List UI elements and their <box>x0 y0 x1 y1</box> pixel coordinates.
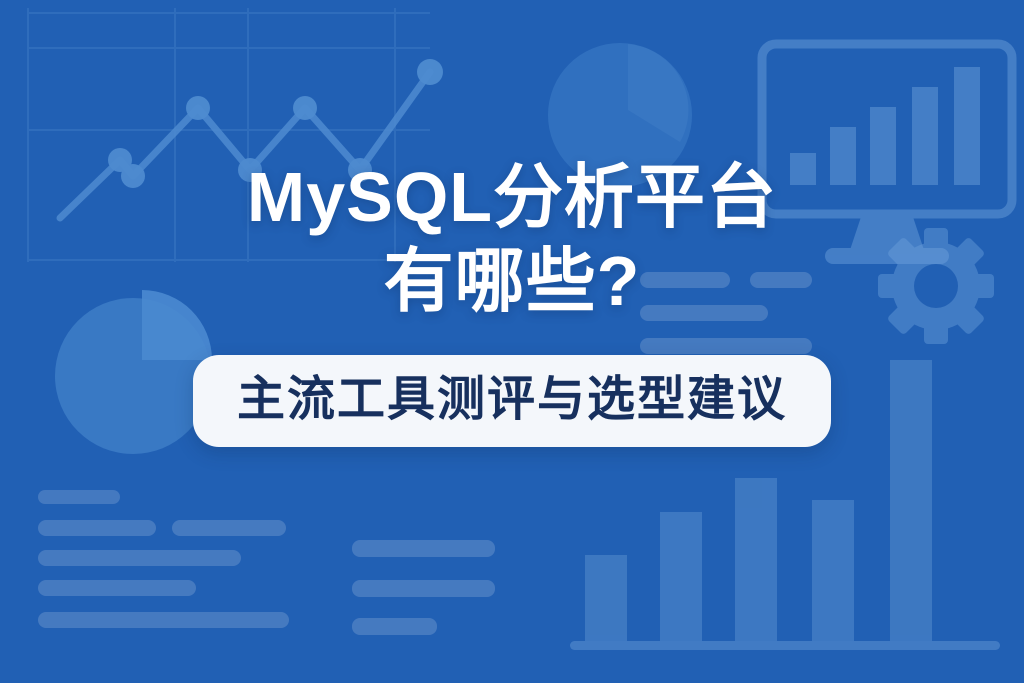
poster-content: MySQL分析平台 有哪些? 主流工具测评与选型建议 <box>0 0 1024 683</box>
subtitle-badge: 主流工具测评与选型建议 <box>193 355 831 447</box>
subtitle-badge-label: 主流工具测评与选型建议 <box>237 375 787 425</box>
poster-canvas: MySQL分析平台 有哪些? 主流工具测评与选型建议 <box>0 0 1024 683</box>
title-line-2: 有哪些? <box>247 242 777 320</box>
page-title: MySQL分析平台 有哪些? <box>247 158 777 321</box>
title-line-1: MySQL分析平台 <box>247 158 777 236</box>
